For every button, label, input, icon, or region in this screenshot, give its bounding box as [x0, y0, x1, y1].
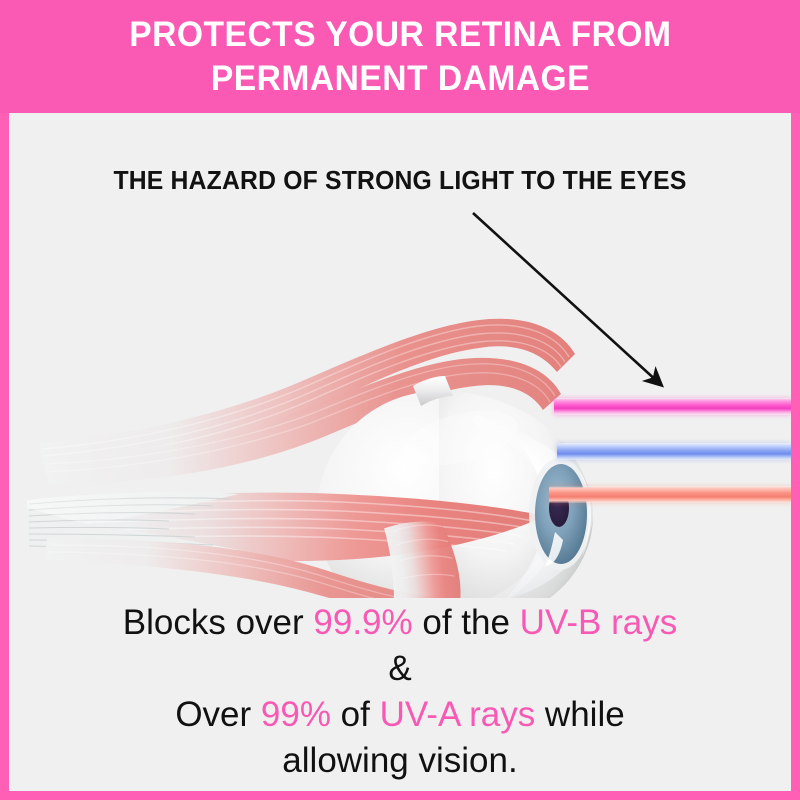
- copy-line-1-mid: of the: [413, 603, 520, 642]
- copy-line-3-post: while: [535, 695, 624, 734]
- subheading-text: THE HAZARD OF STRONG LIGHT TO THE EYES: [21, 167, 780, 196]
- bottom-copy-block: Blocks over 99.9% of the UV-B rays & Ove…: [9, 600, 791, 784]
- copy-line-4: allowing vision.: [9, 738, 791, 784]
- iris: [529, 458, 591, 570]
- copy-line-1-pre: Blocks over: [123, 603, 314, 642]
- copy-ampersand: &: [9, 646, 791, 692]
- uva-percentage: 99%: [261, 695, 331, 734]
- copy-line-3-mid: of: [331, 695, 380, 734]
- copy-line-3-pre: Over: [175, 695, 261, 734]
- content-panel: THE HAZARD OF STRONG LIGHT TO THE EYES: [9, 113, 791, 791]
- header-line-1: PROTECTS YOUR RETINA FROM: [129, 14, 671, 55]
- header-banner: PROTECTS YOUR RETINA FROM PERMANENT DAMA…: [0, 0, 800, 113]
- header-line-2: PERMANENT DAMAGE: [210, 58, 589, 99]
- uva-term: UV-A rays: [380, 695, 536, 734]
- eye-anatomy-svg: [9, 268, 791, 598]
- eye-illustration: [9, 268, 791, 598]
- pupil: [549, 489, 569, 527]
- copy-line-3: Over 99% of UV-A rays while: [9, 692, 791, 738]
- infographic-poster: PROTECTS YOUR RETINA FROM PERMANENT DAMA…: [0, 0, 800, 800]
- copy-line-1: Blocks over 99.9% of the UV-B rays: [9, 600, 791, 646]
- uvb-term: UV-B rays: [520, 603, 678, 642]
- uvb-percentage: 99.9%: [313, 603, 412, 642]
